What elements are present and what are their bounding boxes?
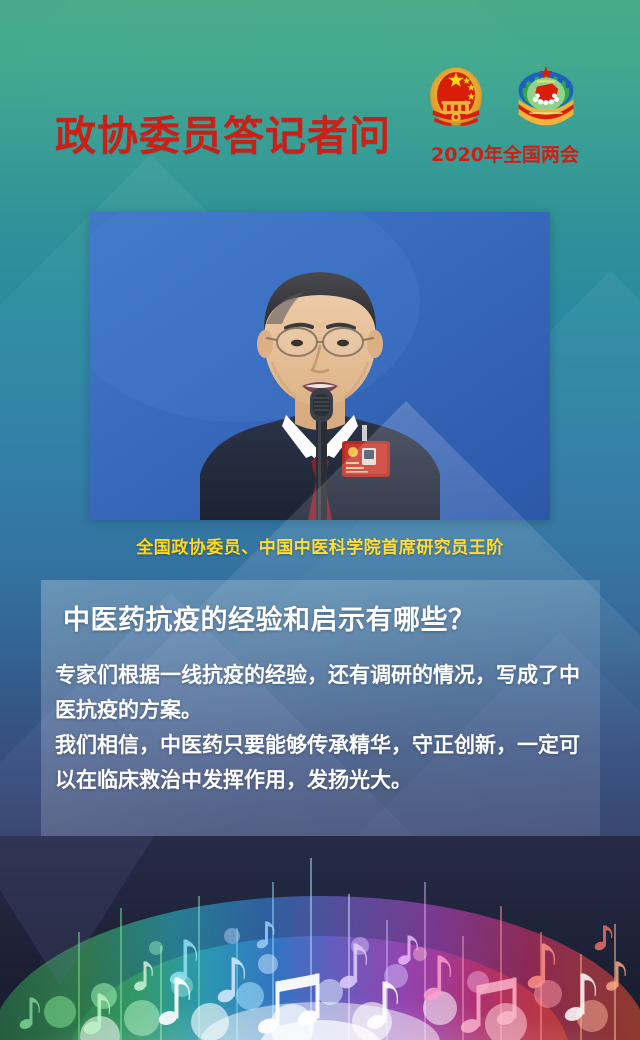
qa-panel: 中医药抗疫的经验和启示有哪些？ 专家们根据一线抗疫的经验，还有调研的情况，写成了… <box>41 580 600 836</box>
cppcc-emblem-icon <box>508 60 584 136</box>
speaker-photo <box>90 212 550 520</box>
answer-body: 专家们根据一线抗疫的经验，还有调研的情况，写成了中医抗疫的方案。 我们相信，中医… <box>55 658 590 798</box>
answer-paragraph-1: 专家们根据一线抗疫的经验，还有调研的情况，写成了中医抗疫的方案。 <box>55 658 590 728</box>
page-title: 政协委员答记者问 <box>55 116 391 157</box>
national-emblem-prc-icon <box>418 60 494 136</box>
music-notes-artwork <box>0 836 640 1040</box>
poster-root: 政协委员答记者问 <box>0 0 640 1040</box>
question-title: 中医药抗疫的经验和启示有哪些？ <box>63 598 476 637</box>
header: 政协委员答记者问 <box>0 0 640 200</box>
emblem-group <box>418 60 588 136</box>
answer-paragraph-2: 我们相信，中医药只要能够传承精华，守正创新，一定可以在临床救治中发挥作用，发扬光… <box>55 728 590 798</box>
year-label: 2020年全国两会 <box>419 140 591 167</box>
photo-caption: 全国政协委员、中国中医科学院首席研究员王阶 <box>0 533 640 558</box>
